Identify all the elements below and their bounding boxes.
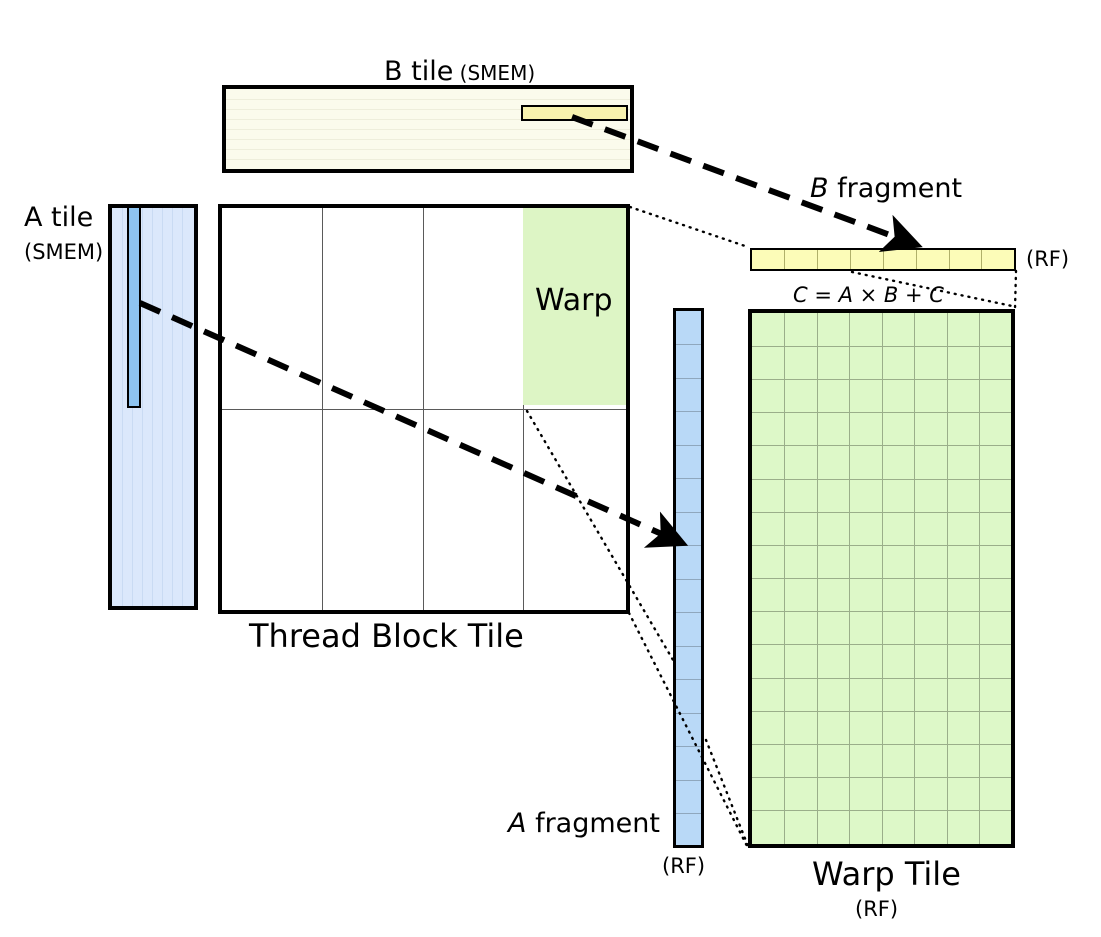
a-fragment-label-italic: A (508, 808, 526, 839)
b-tile-title: B tile (SMEM) (384, 58, 535, 86)
a-tile-stripes (112, 208, 194, 606)
a-tile-highlight-strip (127, 206, 141, 408)
b-fragment-rf-text: (RF) (1026, 247, 1069, 271)
b-tile-title-name: B tile (384, 56, 453, 87)
a-fragment-rf-text: (RF) (662, 854, 705, 878)
thread-block-tile-label: Thread Block Tile (249, 620, 524, 654)
warp-tile-grid (752, 313, 1011, 844)
a-tile-title-name: A tile (24, 202, 93, 233)
b-fragment-grid (752, 250, 1014, 269)
b-fragment-to-warp-tile-leader (1015, 271, 1016, 309)
a-fragment-label-word: fragment (535, 808, 660, 839)
a-tile-mem-text: (SMEM) (24, 240, 103, 264)
b-fragment-label: B fragment (810, 175, 962, 203)
b-fragment-label-italic: B (810, 173, 829, 204)
b-fragment-rf-label: (RF) (1026, 248, 1069, 270)
b-fragment-box (750, 248, 1016, 271)
warp-tile-rf-label: (RF) (855, 898, 898, 920)
b-tile-box (222, 85, 634, 173)
a-fragment-box (673, 308, 704, 848)
b-tile-title-mem: (SMEM) (460, 61, 535, 85)
a-fragment-grid (676, 311, 701, 845)
a-fragment-rf-label: (RF) (662, 855, 705, 877)
thread-block-tile-outline (218, 204, 630, 614)
warp-tile-equation: C = A × B + C (793, 284, 944, 306)
a-fragment-to-warp-tile-leader (706, 740, 748, 846)
warp-tile-equation-text: C = A × B + C (793, 283, 944, 307)
warp-tile-label-text: Warp Tile (812, 855, 961, 893)
warp-tile-box (748, 309, 1015, 848)
b-fragment-label-word: fragment (837, 173, 962, 204)
warp-tile-rf-text: (RF) (855, 897, 898, 921)
gemm-tiling-diagram: B tile (SMEM) A tile (SMEM) (0, 0, 1101, 937)
warp-to-b-fragment-leader (630, 207, 748, 247)
a-tile-title: A tile (24, 204, 93, 232)
a-fragment-label: A fragment (508, 810, 660, 838)
thread-block-tile-text: Thread Block Tile (249, 617, 524, 655)
a-tile-mem-label: (SMEM) (24, 241, 103, 263)
b-tile-highlight-strip (521, 105, 628, 121)
a-tile-box (108, 204, 198, 610)
warp-tile-label: Warp Tile (812, 858, 961, 892)
b-tile-stripes (226, 89, 630, 169)
